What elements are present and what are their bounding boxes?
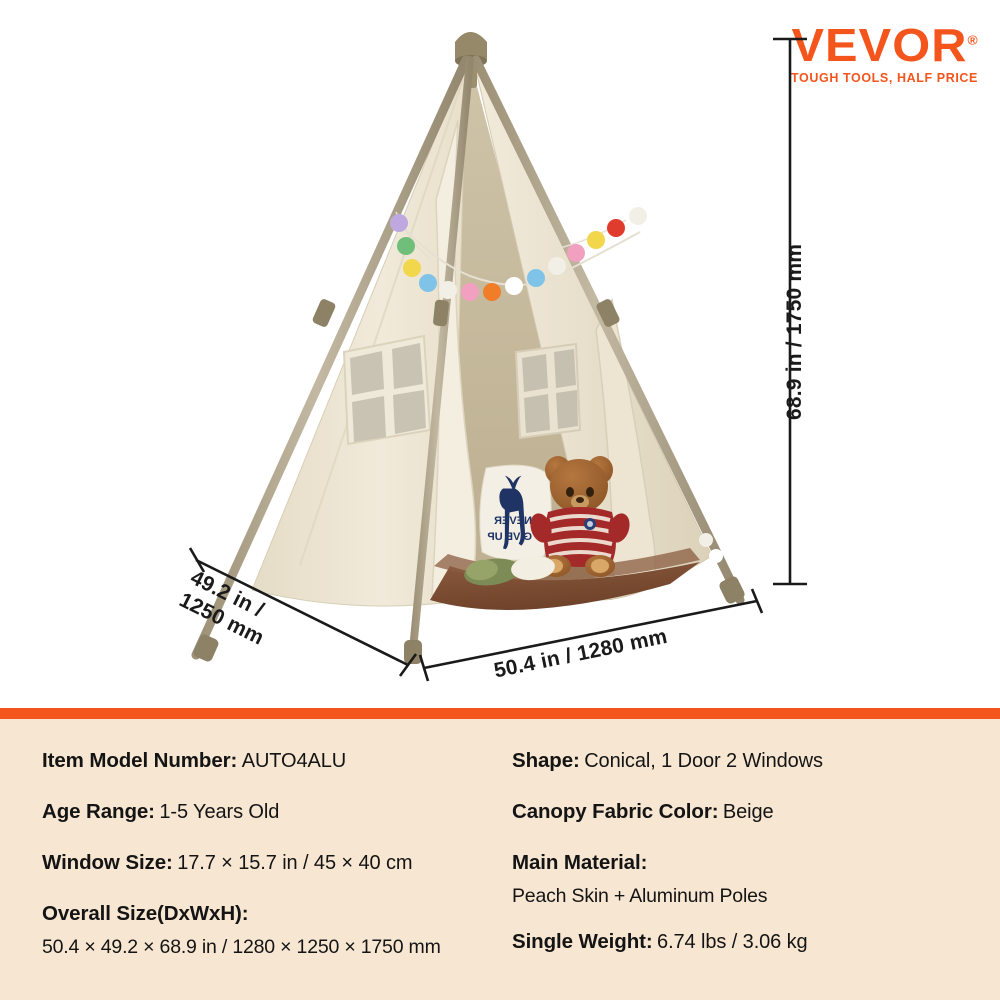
spec-column-right: Shape: Conical, 1 Door 2 Windows Canopy …: [500, 749, 974, 1000]
dimension-label-height: 68.9 in / 1750 mm: [783, 0, 807, 200]
spec-value: Conical, 1 Door 2 Windows: [584, 750, 823, 772]
product-photo: NEVER GIVE UP: [0, 0, 1000, 708]
tent-window-rear: [516, 344, 580, 438]
spec-key: Overall Size(DxWxH):: [42, 902, 248, 925]
spec-key: Item Model Number:: [42, 749, 237, 772]
spec-row-overall-size-value: 50.4 × 49.2 × 68.9 in / 1280 × 1250 × 17…: [42, 936, 500, 959]
spec-key: Main Material:: [512, 851, 647, 874]
spec-value: Beige: [723, 801, 774, 823]
spec-value: AUTO4ALU: [242, 750, 346, 772]
spec-row-single-weight: Single Weight: 6.74 lbs / 3.06 kg: [512, 930, 974, 954]
specification-panel: Item Model Number: AUTO4ALU Age Range: 1…: [0, 719, 1000, 1000]
spec-row-window-size: Window Size: 17.7 × 15.7 in / 45 × 40 cm: [42, 851, 500, 875]
spec-row-age-range: Age Range: 1-5 Years Old: [42, 800, 500, 824]
spec-row-main-material-value: Peach Skin + Aluminum Poles: [512, 885, 974, 908]
spec-value: 1-5 Years Old: [159, 801, 279, 823]
spec-key: Age Range:: [42, 800, 155, 823]
spec-value: 17.7 × 15.7 in / 45 × 40 cm: [177, 852, 412, 874]
spec-column-left: Item Model Number: AUTO4ALU Age Range: 1…: [26, 749, 500, 1000]
spec-row-main-material: Main Material:: [512, 851, 974, 875]
spec-row-item-model-number: Item Model Number: AUTO4ALU: [42, 749, 500, 773]
spec-key: Single Weight:: [512, 930, 653, 953]
orange-divider-bar: [0, 708, 1000, 719]
tent-window-left: [344, 336, 430, 444]
spec-key: Canopy Fabric Color:: [512, 800, 718, 823]
deer-pillow: NEVER GIVE UP: [480, 465, 551, 560]
product-illustration: NEVER GIVE UP: [0, 0, 1000, 708]
spec-row-shape: Shape: Conical, 1 Door 2 Windows: [512, 749, 974, 773]
spec-key: Window Size:: [42, 851, 173, 874]
svg-text:GIVE UP: GIVE UP: [487, 531, 532, 543]
product-spec-page: VEVOR® TOUGH TOOLS, HALF PRICE: [0, 0, 1000, 1000]
spec-row-overall-size: Overall Size(DxWxH):: [42, 902, 500, 926]
spec-value: 6.74 lbs / 3.06 kg: [657, 931, 808, 953]
spec-row-canopy-fabric-color: Canopy Fabric Color: Beige: [512, 800, 974, 824]
tent-panel-left: [252, 62, 466, 606]
spec-key: Shape:: [512, 749, 580, 772]
svg-text:NEVER: NEVER: [494, 515, 532, 527]
